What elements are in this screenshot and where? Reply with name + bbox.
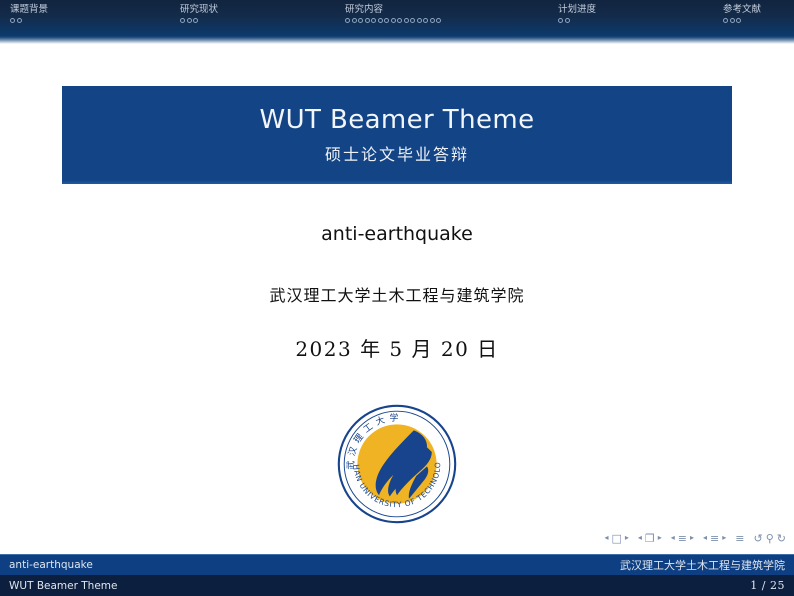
presentation-date: 2023 年 5 月 20 日 [0, 333, 794, 362]
nav-section-label: 计划进度 [558, 4, 596, 16]
nav-dot[interactable] [187, 18, 192, 23]
prev-slide-icon[interactable]: ◂ [604, 534, 608, 542]
nav-dot[interactable] [358, 18, 363, 23]
nav-section-3[interactable]: 计划进度 [558, 4, 596, 23]
nav-section-dots[interactable] [558, 18, 596, 23]
next-frame-icon[interactable]: ▸ [658, 534, 662, 542]
nav-dot[interactable] [391, 18, 396, 23]
page-title: WUT Beamer Theme [259, 105, 534, 135]
nav-section-label: 研究现状 [180, 4, 218, 16]
next-slide-icon[interactable]: ▸ [625, 534, 629, 542]
nav-section-dots[interactable] [10, 18, 48, 23]
nav-dot[interactable] [378, 18, 383, 23]
next-section-icon[interactable]: ▸ [722, 534, 726, 542]
history-navigation-group[interactable]: ↺ ⚲ ↻ [754, 533, 787, 544]
slide-navigation-group[interactable]: ◂ □ ▸ [604, 533, 628, 544]
section-icon[interactable]: ≡ [710, 533, 719, 544]
nav-dot[interactable] [371, 18, 376, 23]
wut-logo-svg: 武汉理工大学 WUHAN UNIVERSITY OF TECHNOLOGY [337, 404, 457, 524]
nav-dot[interactable] [565, 18, 570, 23]
nav-dot[interactable] [423, 18, 428, 23]
nav-dot[interactable] [430, 18, 435, 23]
forward-icon[interactable]: ↻ [777, 533, 786, 544]
header-gradient-divider [0, 36, 794, 44]
nav-dot[interactable] [10, 18, 15, 23]
page-subtitle: 硕士论文毕业答辩 [325, 141, 469, 165]
institute-name: 武汉理工大学土木工程与建筑学院 [0, 282, 794, 306]
next-subsection-icon[interactable]: ▸ [690, 534, 694, 542]
presentation-icon[interactable]: ≡ [735, 533, 744, 544]
nav-section-4[interactable]: 参考文献 [723, 4, 761, 23]
footer-bottom-bar: WUT Beamer Theme 1 / 25 [0, 575, 794, 596]
nav-dot[interactable] [404, 18, 409, 23]
nav-dot[interactable] [384, 18, 389, 23]
nav-dot[interactable] [365, 18, 370, 23]
prev-section-icon[interactable]: ◂ [703, 534, 707, 542]
subsection-navigation-group[interactable]: ◂ ≡ ▸ [671, 533, 694, 544]
nav-section-label: 研究内容 [345, 4, 441, 16]
nav-dot[interactable] [436, 18, 441, 23]
prev-frame-icon[interactable]: ◂ [638, 534, 642, 542]
nav-dot[interactable] [193, 18, 198, 23]
presentation-navigation-group[interactable]: ≡ [735, 533, 744, 544]
section-navigation-group[interactable]: ◂ ≡ ▸ [703, 533, 726, 544]
wut-logo: 武汉理工大学 WUHAN UNIVERSITY OF TECHNOLOGY [337, 404, 457, 524]
nav-dot[interactable] [723, 18, 728, 23]
nav-dot[interactable] [730, 18, 735, 23]
search-icon[interactable]: ⚲ [766, 533, 774, 544]
nav-dot[interactable] [180, 18, 185, 23]
footer-author: anti-earthquake [9, 559, 93, 571]
title-block: WUT Beamer Theme 硕士论文毕业答辩 [62, 86, 732, 184]
footer-institute: 武汉理工大学土木工程与建筑学院 [620, 557, 785, 573]
page-number: 1 / 25 [750, 579, 785, 592]
nav-section-label: 课题背景 [10, 4, 48, 16]
frame-icon[interactable]: ❐ [645, 533, 655, 544]
nav-section-1[interactable]: 研究现状 [180, 4, 218, 23]
nav-section-dots[interactable] [180, 18, 218, 23]
author-name: anti-earthquake [0, 223, 794, 245]
prev-subsection-icon[interactable]: ◂ [671, 534, 675, 542]
nav-dot[interactable] [417, 18, 422, 23]
nav-dot[interactable] [352, 18, 357, 23]
nav-dot[interactable] [558, 18, 563, 23]
nav-dot[interactable] [397, 18, 402, 23]
nav-dot[interactable] [17, 18, 22, 23]
frame-navigation-group[interactable]: ◂ ❐ ▸ [638, 533, 662, 544]
subsection-icon[interactable]: ≡ [678, 533, 687, 544]
footer-top-bar: anti-earthquake 武汉理工大学土木工程与建筑学院 [0, 554, 794, 575]
nav-dot[interactable] [736, 18, 741, 23]
nav-section-label: 参考文献 [723, 4, 761, 16]
back-icon[interactable]: ↺ [754, 533, 763, 544]
nav-section-dots[interactable] [345, 18, 441, 23]
nav-dot[interactable] [410, 18, 415, 23]
nav-section-0[interactable]: 课题背景 [10, 4, 48, 23]
nav-section-2[interactable]: 研究内容 [345, 4, 441, 23]
nav-section-dots[interactable] [723, 18, 761, 23]
beamer-navigation-symbols[interactable]: ◂ □ ▸ ◂ ❐ ▸ ◂ ≡ ▸ ◂ ≡ ▸ ≡ ↺ ⚲ ↻ [604, 529, 786, 547]
footer-title: WUT Beamer Theme [9, 580, 117, 592]
nav-dot[interactable] [345, 18, 350, 23]
slide-icon[interactable]: □ [611, 533, 621, 544]
